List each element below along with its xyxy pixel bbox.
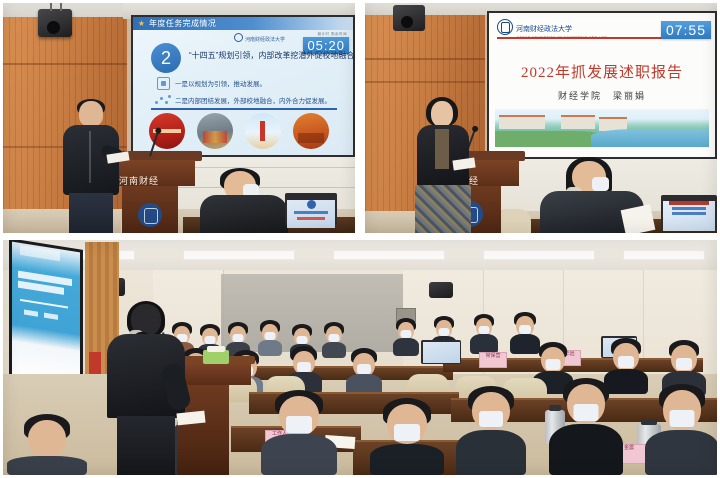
- head: [79, 101, 103, 127]
- slide-thumbnail: [197, 113, 233, 149]
- campus-lawn: [495, 131, 605, 147]
- university-seal-icon: [497, 19, 513, 35]
- document-icon: [157, 77, 170, 90]
- laptop-screen: [663, 201, 715, 231]
- name-placard: 常保营: [479, 352, 507, 368]
- speaker-cone: [47, 21, 60, 34]
- panel-top-right: 河南财经政法大学 HENAN UNIVERSITY OF ECONOMICS A…: [365, 3, 717, 233]
- university-emblem-icon: [138, 203, 162, 227]
- ceiling-speaker-icon: [393, 5, 425, 31]
- audience-person-front: [19, 416, 75, 475]
- panel-top-left: ★ 年度任务完成情况 河南财经政法大学 倒计时 剩余时间 05:20 2 “十四…: [3, 3, 355, 233]
- slide-divider: [151, 108, 337, 110]
- laptop: [285, 193, 337, 225]
- slide-subtitle: 财经学院 梁丽娟: [489, 89, 715, 102]
- male-presenter: [61, 101, 123, 233]
- audience-person: [473, 316, 495, 354]
- bolt-icon: ★: [137, 19, 146, 28]
- slide-org-logo: 河南财经政法大学: [234, 33, 285, 43]
- slide-org-logo-text: 河南财经政法大学: [516, 26, 572, 33]
- inner-top: [435, 129, 449, 169]
- presenter-back-view: [107, 304, 185, 475]
- audience-person-front: [465, 388, 517, 475]
- audience-person: [349, 350, 379, 396]
- torso: [200, 195, 288, 233]
- ceiling-speaker-icon: [429, 282, 453, 298]
- female-presenter: [413, 99, 475, 233]
- slide-bullet-2: 二是内部团结发展，外部校地融合，内外合力促发展。: [175, 95, 331, 105]
- laptop: [661, 195, 717, 229]
- audience-person: [609, 340, 643, 394]
- slide-headline: “十四五”规划引领，内部改革挖潜外促校地融合: [189, 50, 353, 61]
- audience-person-front: [271, 392, 327, 475]
- slide-thumbnail: [245, 113, 281, 149]
- audience-person-front: [559, 380, 613, 475]
- campus-lake: [591, 129, 709, 147]
- audience-person-front: [379, 400, 435, 475]
- ceiling-speaker-icon: [38, 9, 72, 37]
- seated-staff: [198, 171, 290, 233]
- speaker-cone: [401, 16, 413, 28]
- slide-title: 2022年抓发展述职报告: [489, 61, 715, 82]
- laptop: [421, 340, 461, 364]
- jacket-zipper: [89, 131, 91, 183]
- speaker-bracket: [50, 3, 62, 11]
- panel-bottom-wide: 常保营 魏华远: [3, 240, 717, 475]
- face-mask-icon: [592, 177, 609, 191]
- audience-person-front: [655, 386, 709, 475]
- skirt: [415, 185, 471, 233]
- audience-person: [259, 322, 281, 356]
- projection-screen: 河南财经政法大学 HENAN UNIVERSITY OF ECONOMICS A…: [489, 13, 715, 157]
- network-icon: [155, 95, 171, 105]
- slide-step-badge: 2: [151, 43, 181, 73]
- campus-panorama-image: [495, 109, 709, 147]
- slide-org-logo-text: 河南财经政法大学: [245, 37, 285, 43]
- projection-screen: [12, 242, 80, 395]
- laptop-screen: [287, 200, 335, 228]
- audience-person: [323, 324, 345, 358]
- slide-header-title: 年度任务完成情况: [149, 18, 216, 29]
- legs: [69, 193, 113, 233]
- projection-screen: ★ 年度任务完成情况 河南财经政法大学 倒计时 剩余时间 05:20 2 “十四…: [133, 17, 353, 155]
- report-paper: [452, 158, 475, 171]
- head: [431, 101, 453, 127]
- countdown-timer: 07:55: [661, 21, 711, 39]
- audience-person: [395, 320, 417, 356]
- photo-collage: ★ 年度任务完成情况 河南财经政法大学 倒计时 剩余时间 05:20 2 “十四…: [0, 0, 720, 478]
- slide-thumbnail-row: [149, 113, 341, 149]
- university-seal-icon: [234, 33, 243, 42]
- slide-thumbnail: [293, 113, 329, 149]
- audience-person: [513, 314, 537, 354]
- slide-header-bar: ★ 年度任务完成情况: [133, 17, 353, 30]
- slide-org-logo: 河南财经政法大学 HENAN UNIVERSITY OF ECONOMICS A…: [497, 19, 607, 39]
- legs: [117, 416, 175, 475]
- held-document: [621, 204, 656, 233]
- slide-bullet-1: 一是以规划为引领，推动发展。: [175, 78, 266, 88]
- tissue-box: [203, 350, 229, 364]
